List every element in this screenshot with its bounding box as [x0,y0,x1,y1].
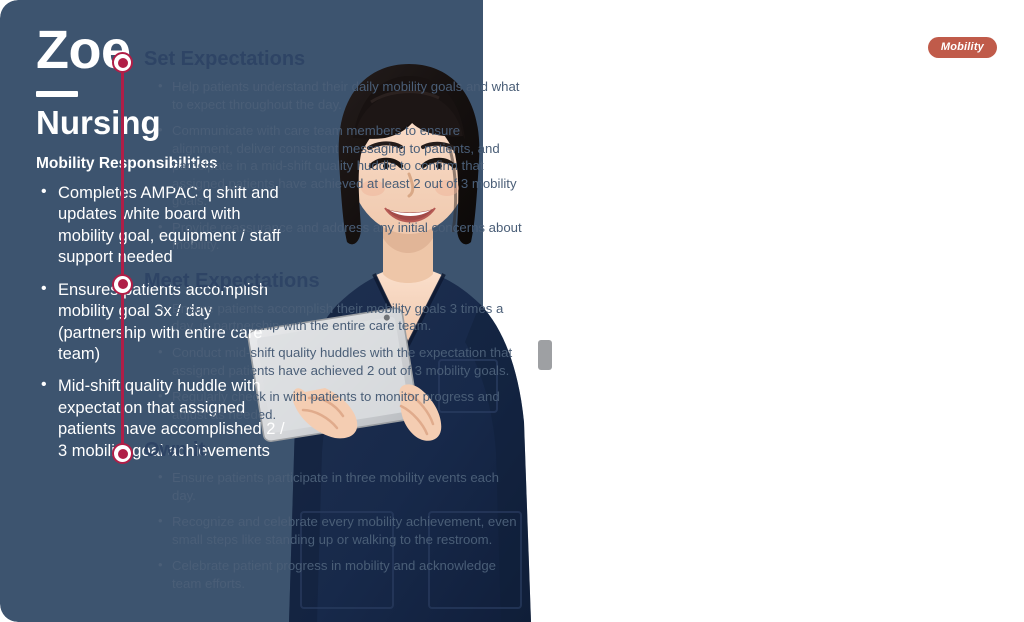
section-list: Ensure patients accomplish their mobilit… [144,300,522,423]
profile-card: Zoe Nursing Mobility Responsibilities Co… [0,0,1024,622]
section-list: Ensure patients participate in three mob… [144,469,522,592]
list-item: Recognize and celebrate every mobility a… [157,513,522,548]
status-badge: Mobility [928,37,997,58]
timeline-section-meet-expectations: Meet Expectations Ensure patients accomp… [112,270,522,423]
list-item: Help patients understand their daily mob… [157,78,522,113]
list-item: Celebrate patient progress in mobility a… [157,557,522,592]
right-panel [483,0,1024,622]
list-item: Conduct mid-shift quality huddles with t… [157,344,522,379]
section-list: Help patients understand their daily mob… [144,78,522,254]
title-divider [36,91,78,97]
section-title: Meet Expectations [144,270,522,293]
timeline-marker-icon [112,274,133,295]
list-item: Provide reassurance and address any init… [157,219,522,254]
timeline-marker-icon [112,443,133,464]
list-item: Ensure patients participate in three mob… [157,469,522,504]
section-title: Set Expectations [144,48,522,71]
list-item: Ensure patients accomplish their mobilit… [157,300,522,335]
section-title: Own it [144,439,522,462]
list-item: Communicate with care team members to en… [157,122,522,210]
list-item: Regularly check in with patients to moni… [157,388,522,423]
expectations-timeline: Set Expectations Help patients understan… [112,48,522,601]
timeline-marker-icon [112,52,133,73]
timeline-section-own-it: Own it Ensure patients participate in th… [112,439,522,592]
timeline-section-set-expectations: Set Expectations Help patients understan… [112,48,522,254]
